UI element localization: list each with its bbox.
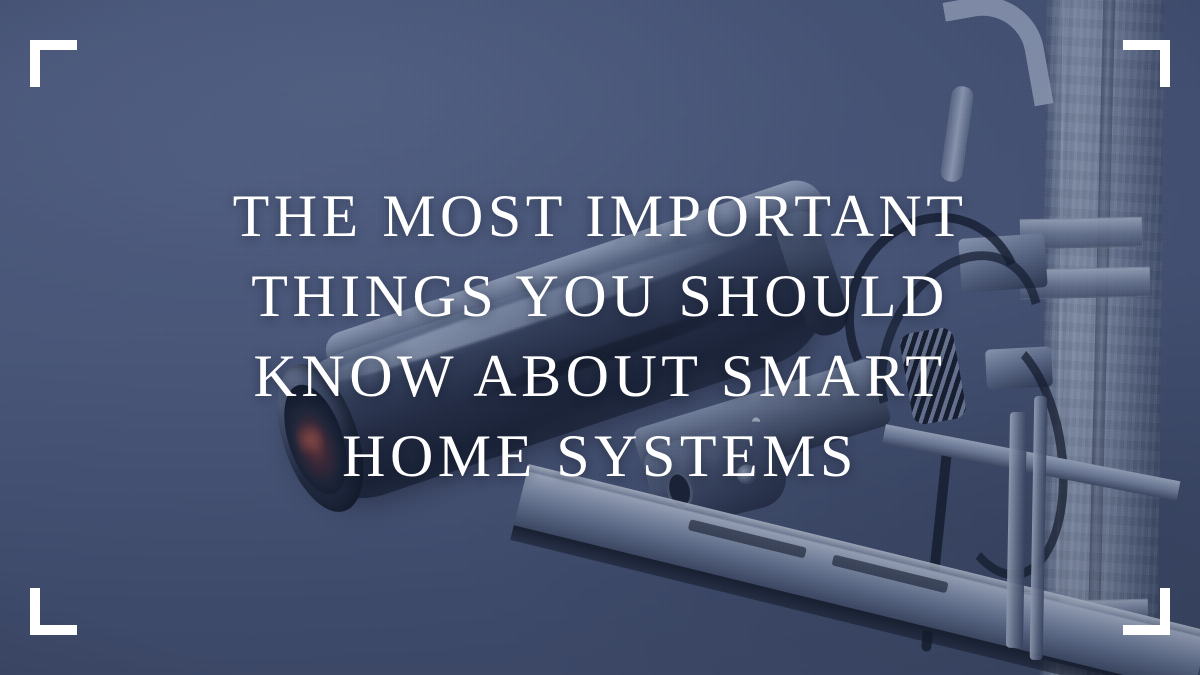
banner-hero: THE MOST IMPORTANT THINGS YOU SHOULD KNO… — [0, 0, 1200, 675]
corner-bracket-top-right-icon — [1123, 40, 1170, 87]
corner-bracket-bottom-left-icon — [30, 588, 77, 635]
corner-bracket-top-left-icon — [30, 40, 77, 87]
corner-bracket-bottom-right-icon — [1123, 588, 1170, 635]
vignette-overlay — [0, 0, 1200, 675]
